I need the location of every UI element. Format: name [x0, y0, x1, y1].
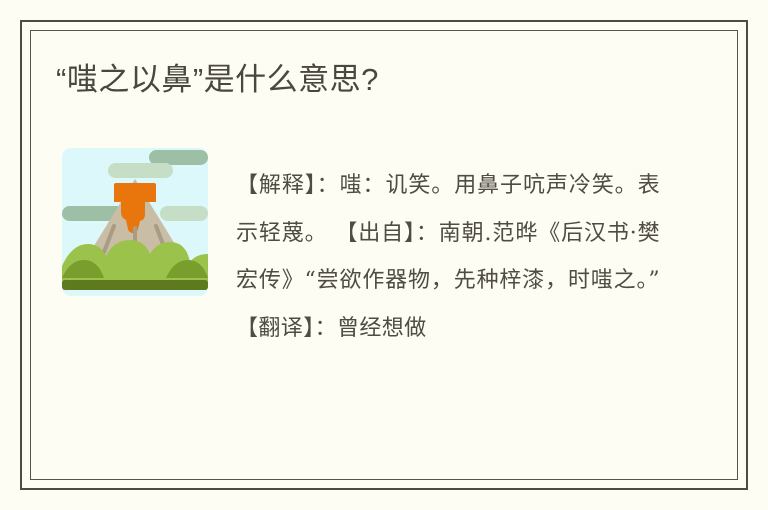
volcano-icon [62, 148, 208, 296]
volcano-illustration [62, 148, 208, 296]
page-title: “嗤之以鼻”是什么意思? [56, 58, 696, 102]
idiom-card: “嗤之以鼻”是什么意思? [0, 0, 768, 510]
idiom-explanation-text: 【解释】：嗤：讥笑。用鼻子吭声冷笑。表示轻蔑。 【出自】：南朝.范晔《后汉书·樊… [236, 162, 660, 352]
